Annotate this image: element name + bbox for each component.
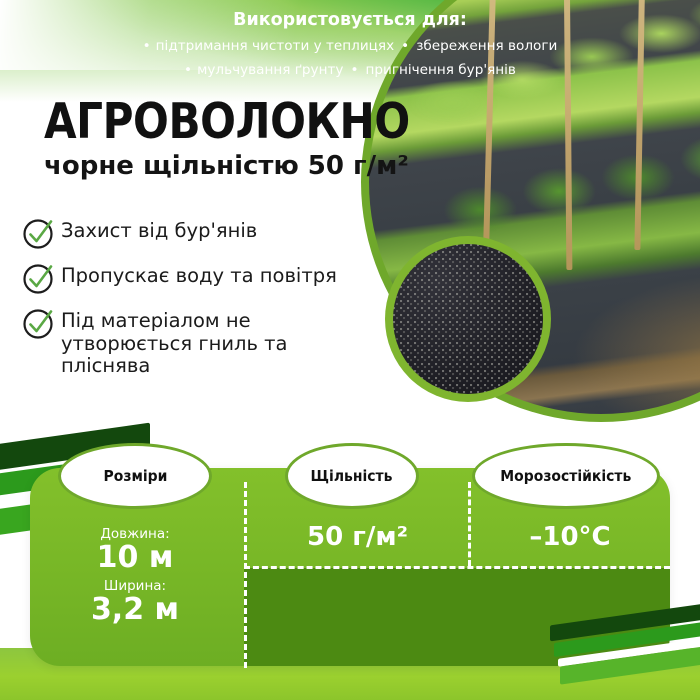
badge-label: Морозостійкість — [500, 467, 631, 485]
divider-vertical-1 — [244, 482, 247, 668]
right-stripes-decoration — [500, 612, 700, 700]
usage-item: пригнічення бур'янів — [365, 62, 515, 78]
usage-item: мульчування ґрунту — [197, 62, 343, 78]
feature-text: Пропускає воду та повітря — [61, 263, 337, 288]
bullet-glyph: • — [143, 38, 151, 54]
check-circle-icon — [22, 309, 52, 339]
usage-item: підтримання чистоти у теплицях — [156, 38, 395, 54]
list-item: Під матеріалом не утворюється гниль та п… — [22, 308, 352, 378]
bullet-glyph: • — [401, 38, 409, 54]
list-item: Пропускає воду та повітря — [22, 263, 352, 294]
badge-frost-resistance: Морозостійкість — [472, 443, 660, 509]
infographic-canvas: АГРОВОЛОКНО чорне щільністю 50 г/м² Захи… — [0, 0, 700, 700]
usage-item: збереження вологи — [416, 38, 557, 54]
width-value: 3,2 м — [40, 592, 230, 627]
bullet-glyph: • — [184, 62, 192, 78]
page-title: АГРОВОЛОКНО — [44, 97, 410, 146]
badge-density: Щільність — [285, 443, 419, 509]
frost-value: –10°C — [472, 522, 668, 552]
usage-title: Використовується для: — [0, 10, 700, 30]
check-circle-icon — [22, 219, 52, 249]
feature-text: Під матеріалом не утворюється гниль та п… — [61, 308, 352, 378]
feature-text: Захист від бур'янів — [61, 218, 257, 243]
bullet-glyph: • — [350, 62, 358, 78]
badge-label: Щільність — [311, 467, 393, 485]
list-item: Захист від бур'янів — [22, 218, 352, 249]
page-subtitle: чорне щільністю 50 г/м² — [44, 152, 409, 181]
fabric-texture-swatch — [393, 244, 543, 394]
density-value: 50 г/м² — [250, 522, 465, 552]
badge-label: Розміри — [103, 467, 167, 485]
usage-row-2: •мульчування ґрунту•пригнічення бур'янів — [0, 62, 700, 78]
length-value: 10 м — [40, 540, 230, 575]
usage-row-1: •підтримання чистоти у теплицях•збережен… — [0, 38, 700, 54]
check-circle-icon — [22, 264, 52, 294]
feature-list: Захист від бур'янів Пропускає воду та по… — [22, 218, 352, 392]
badge-dimensions: Розміри — [58, 443, 212, 509]
divider-horizontal — [244, 566, 670, 569]
divider-vertical-2 — [468, 482, 471, 566]
